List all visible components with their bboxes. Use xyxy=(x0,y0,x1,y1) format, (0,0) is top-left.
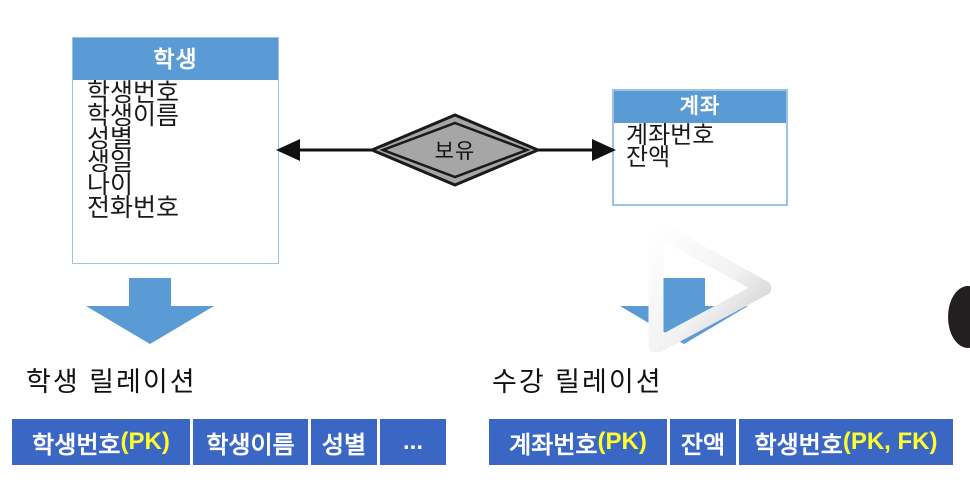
relationship-diamond: 보유 xyxy=(370,113,540,187)
cell-key-tag: (PK) xyxy=(598,428,647,456)
relation-table-account: 계좌번호(PK) 잔액 학생번호(PK, FK) xyxy=(489,419,953,465)
attribute-row: 전화번호 xyxy=(87,197,278,220)
entity-attributes-student: 학생번호 학생이름 성별 생일 나이 전화번호 xyxy=(73,80,278,263)
relation-caption-account: 수강 릴레이션 xyxy=(492,360,663,399)
table-cell[interactable]: 학생번호(PK) xyxy=(12,419,190,465)
table-cell[interactable]: 잔액 xyxy=(670,419,736,465)
edge-artifact-shape xyxy=(948,286,970,348)
relation-caption-student: 학생 릴레이션 xyxy=(26,360,197,399)
entity-box-student: 학생 학생번호 학생이름 성별 생일 나이 전화번호 xyxy=(72,37,279,264)
connector-account-line xyxy=(534,138,616,162)
entity-box-account: 계좌 계좌번호 잔액 xyxy=(612,89,788,206)
cell-key-tag: (PK) xyxy=(121,428,170,456)
cell-text: 계좌번호 xyxy=(509,425,597,460)
connector-student-line xyxy=(276,138,376,162)
cell-text: 학생이름 xyxy=(206,425,294,460)
play-button-overlay[interactable] xyxy=(646,222,771,352)
table-cell[interactable]: 성별 xyxy=(311,419,377,465)
attribute-row: 잔액 xyxy=(626,147,786,169)
table-cell[interactable]: 학생이름 xyxy=(193,419,308,465)
table-cell[interactable]: ... xyxy=(380,419,446,465)
entity-title-student: 학생 xyxy=(73,38,278,80)
cell-text: 잔액 xyxy=(681,425,725,460)
table-cell[interactable]: 계좌번호(PK) xyxy=(489,419,667,465)
cell-text: 학생번호 xyxy=(32,425,120,460)
slide-canvas: 학생 학생번호 학생이름 성별 생일 나이 전화번호 계좌 계좌번호 잔액 보유 xyxy=(0,0,970,499)
cell-text: ... xyxy=(403,428,423,456)
cell-text: 학생번호 xyxy=(755,425,843,460)
relationship-label: 보유 xyxy=(370,113,540,187)
entity-title-account: 계좌 xyxy=(614,91,786,123)
entity-attributes-account: 계좌번호 잔액 xyxy=(614,123,786,204)
cell-text: 성별 xyxy=(322,425,366,460)
relation-table-student: 학생번호(PK) 학생이름 성별 ... xyxy=(12,419,446,465)
cell-key-tag: (PK, FK) xyxy=(843,428,938,456)
play-triangle-icon xyxy=(656,228,764,346)
table-cell[interactable]: 학생번호(PK, FK) xyxy=(739,419,953,465)
down-arrow-student xyxy=(86,278,214,344)
